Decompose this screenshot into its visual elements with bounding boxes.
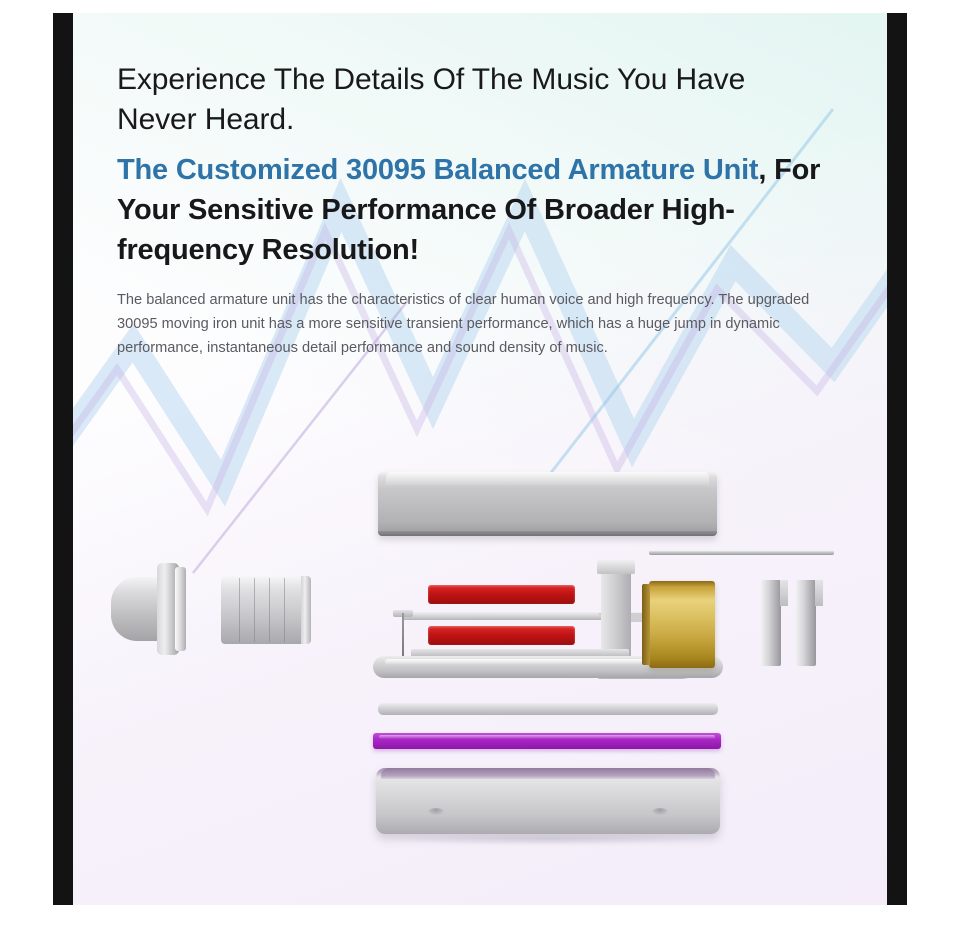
content-panel: Experience The Details Of The Music You … — [73, 13, 887, 905]
exploded-view-diagram — [73, 413, 887, 883]
part-diaphragm — [373, 733, 721, 749]
headline-line-1: Experience The Details Of The Music You … — [117, 63, 745, 96]
coil-side-face — [642, 584, 650, 665]
contact-notch — [780, 580, 788, 606]
part-bottom-housing — [376, 768, 720, 834]
body-paragraph: The balanced armature unit has the chara… — [117, 289, 843, 360]
sleeve-rib — [239, 578, 240, 642]
nozzle-rim — [175, 567, 186, 651]
sleeve-rib — [284, 578, 285, 642]
part-sound-nozzle — [111, 563, 193, 655]
housing-lip — [381, 768, 715, 779]
part-magnet-lower — [428, 626, 575, 645]
left-edge-bar — [53, 13, 73, 905]
bracket-tab — [597, 560, 635, 574]
headline-line-2: Never Heard. — [117, 103, 294, 136]
sleeve-rib — [254, 578, 255, 642]
contact-notch — [815, 580, 823, 606]
subheadline: The Customized 30095 Balanced Armature U… — [117, 150, 857, 270]
part-thin-plate — [378, 703, 718, 715]
product-detail-page: Experience The Details Of The Music You … — [0, 0, 960, 935]
drop-shadow — [391, 833, 705, 845]
sleeve-rib — [269, 578, 270, 642]
part-contact-pin-b — [796, 580, 816, 666]
subheadline-accent: The Customized 30095 Balanced Armature U… — [117, 154, 758, 186]
part-coil-block — [649, 581, 715, 668]
part-top-cover — [378, 472, 717, 536]
right-edge-bar — [887, 13, 907, 905]
marketing-text-block: Experience The Details Of The Music You … — [117, 60, 857, 360]
page-title: Experience The Details Of The Music You … — [117, 60, 857, 139]
part-magnet-upper — [428, 585, 575, 604]
part-ribbed-sleeve — [221, 576, 311, 644]
housing-dimple — [652, 808, 668, 815]
sleeve-end-cap — [301, 576, 311, 644]
housing-dimple — [428, 808, 444, 815]
part-connecting-rod — [649, 550, 834, 555]
part-contact-pin-a — [761, 580, 781, 666]
